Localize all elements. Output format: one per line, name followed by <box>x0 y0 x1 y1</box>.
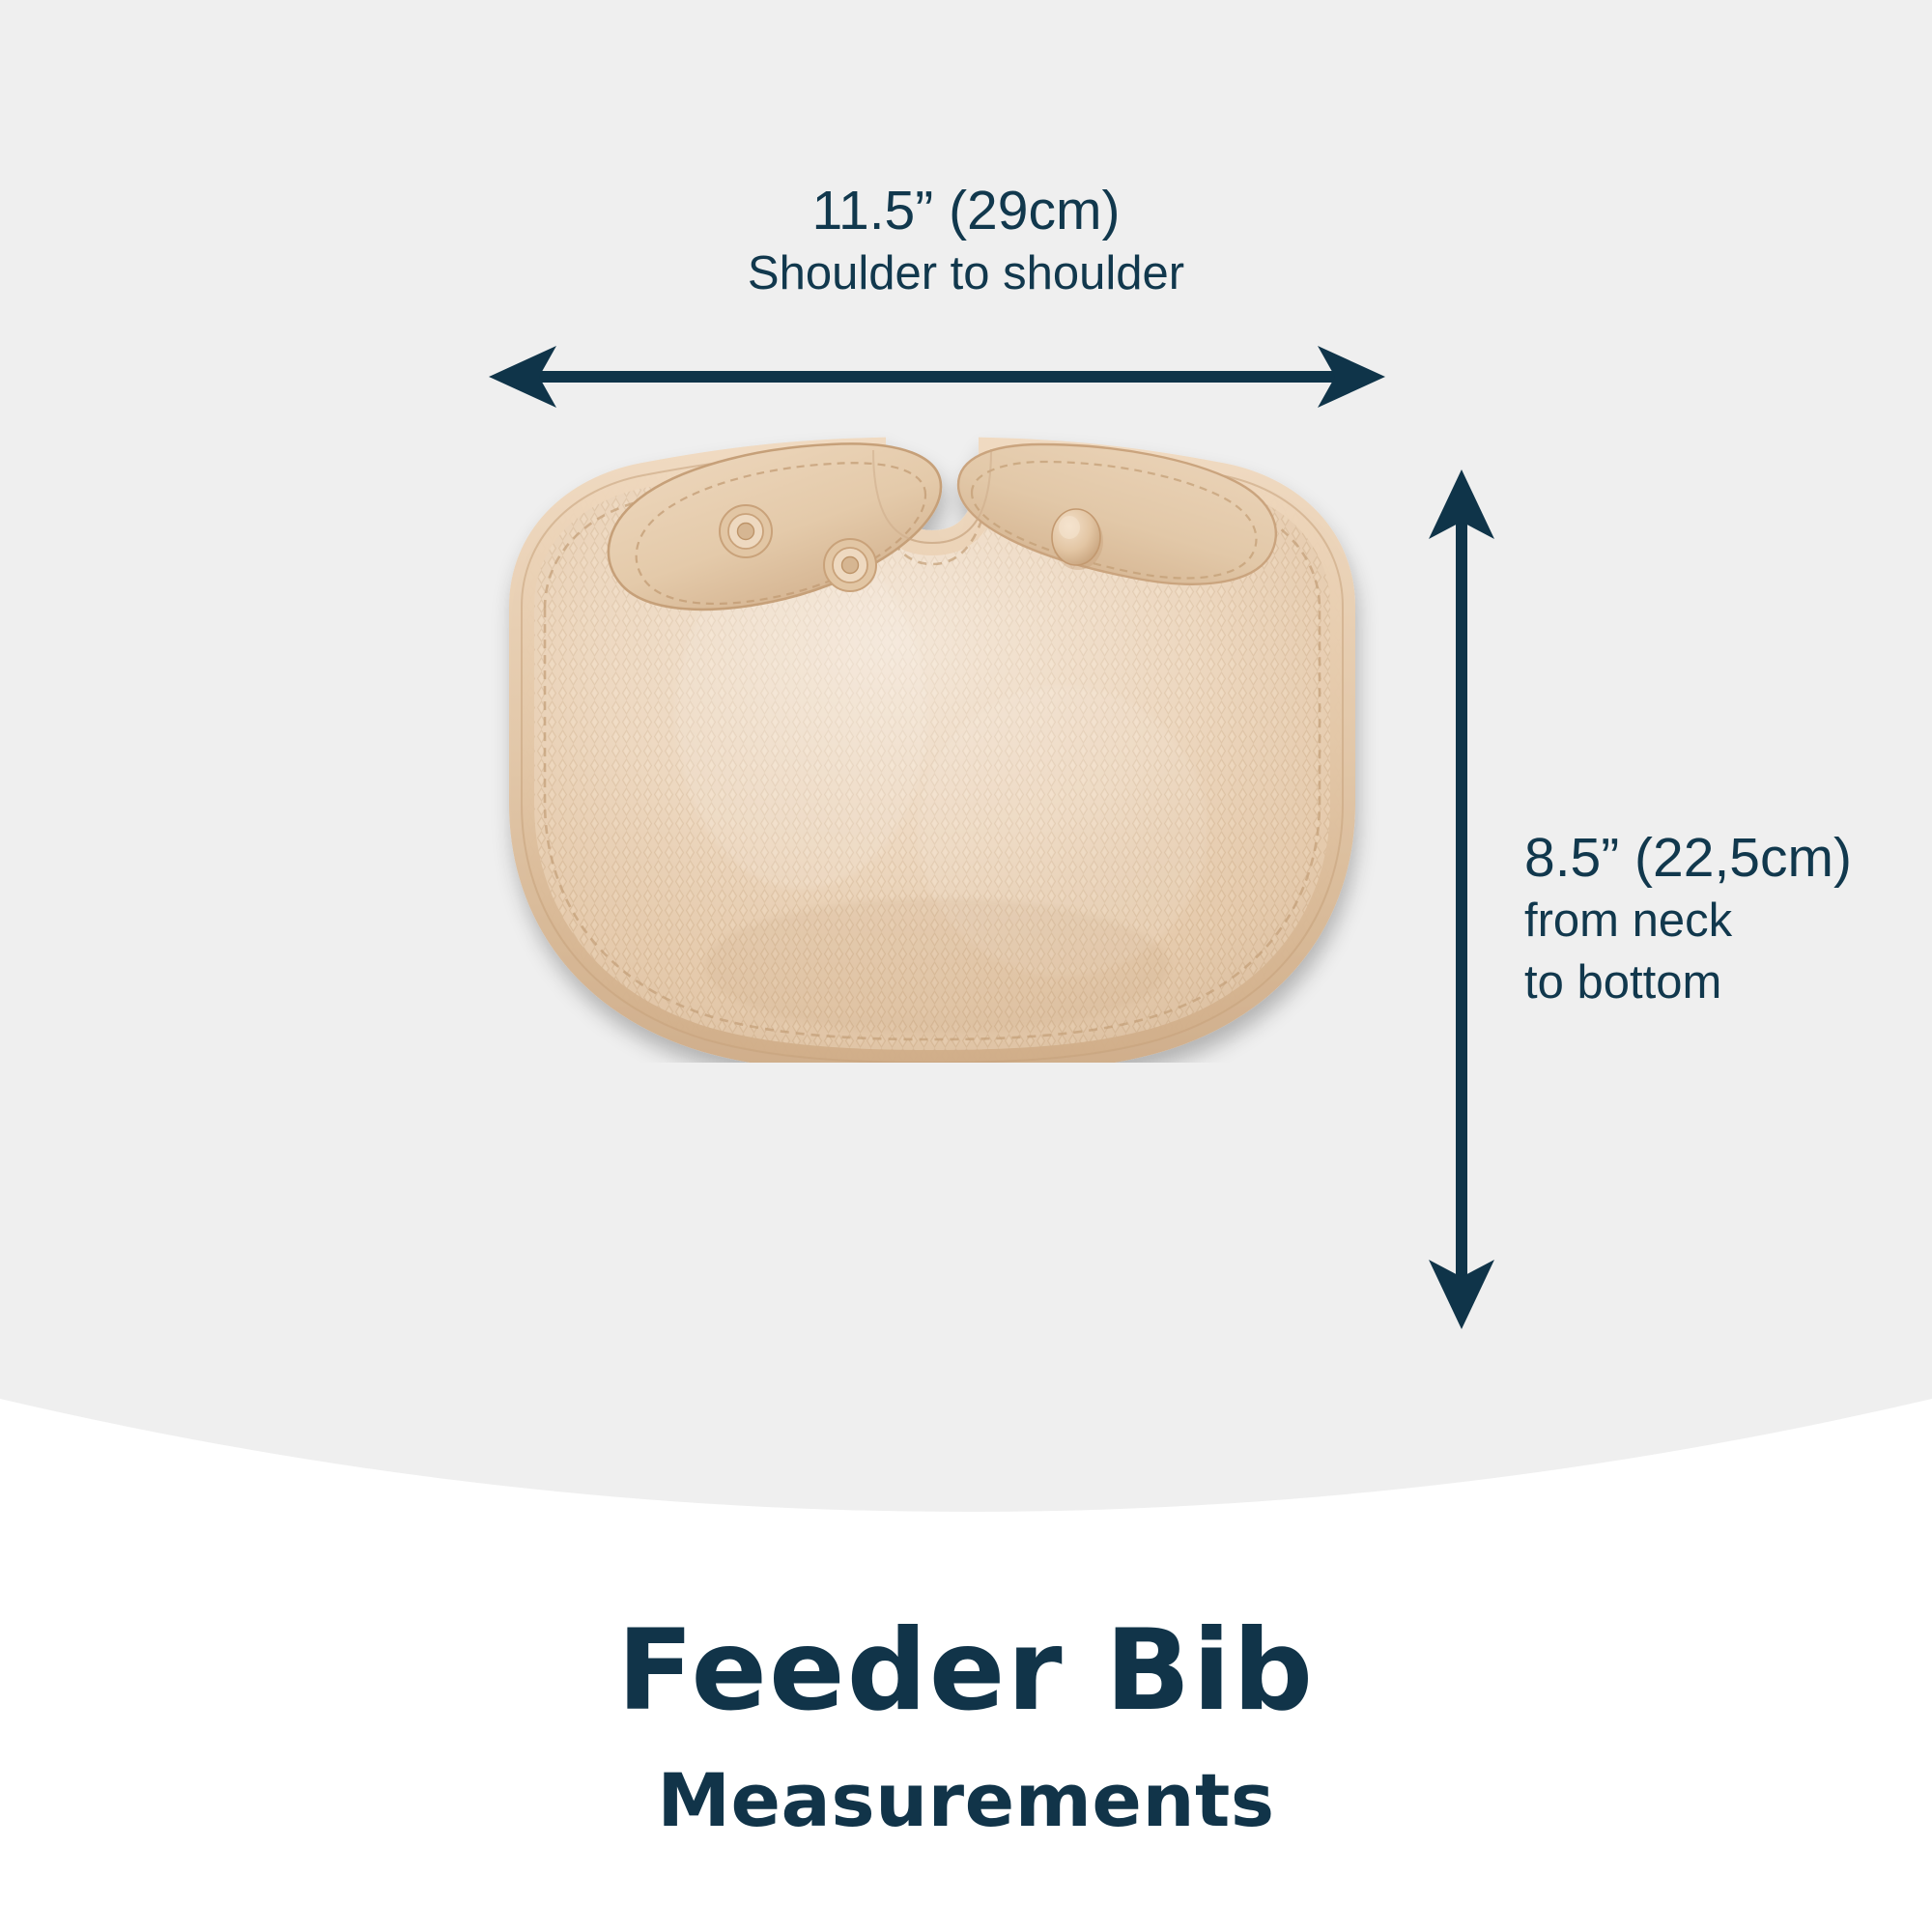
height-description-line-2: to bottom <box>1524 952 1852 1014</box>
snap-socket-2 <box>824 539 876 591</box>
width-dimension-arrow <box>464 338 1410 415</box>
width-description: Shoulder to shoulder <box>748 243 1184 305</box>
height-dimension-arrow <box>1406 454 1518 1343</box>
product-subtitle: Measurements <box>0 1764 1932 1837</box>
height-value: 8.5” (22,5cm) <box>1524 826 1852 891</box>
infographic-canvas: 11.5” (29cm) Shoulder to shoulder 8.5” (… <box>0 0 1932 1932</box>
height-description-line-1: from neck <box>1524 891 1852 952</box>
width-measurement-label: 11.5” (29cm) Shoulder to shoulder <box>748 179 1184 305</box>
height-measurement-label: 8.5” (22,5cm) from neck to bottom <box>1524 826 1852 1014</box>
width-value: 11.5” (29cm) <box>748 179 1184 243</box>
product-image-bib <box>483 425 1410 1063</box>
product-title: Feeder Bib <box>0 1615 1932 1727</box>
snap-socket-1 <box>720 505 772 557</box>
